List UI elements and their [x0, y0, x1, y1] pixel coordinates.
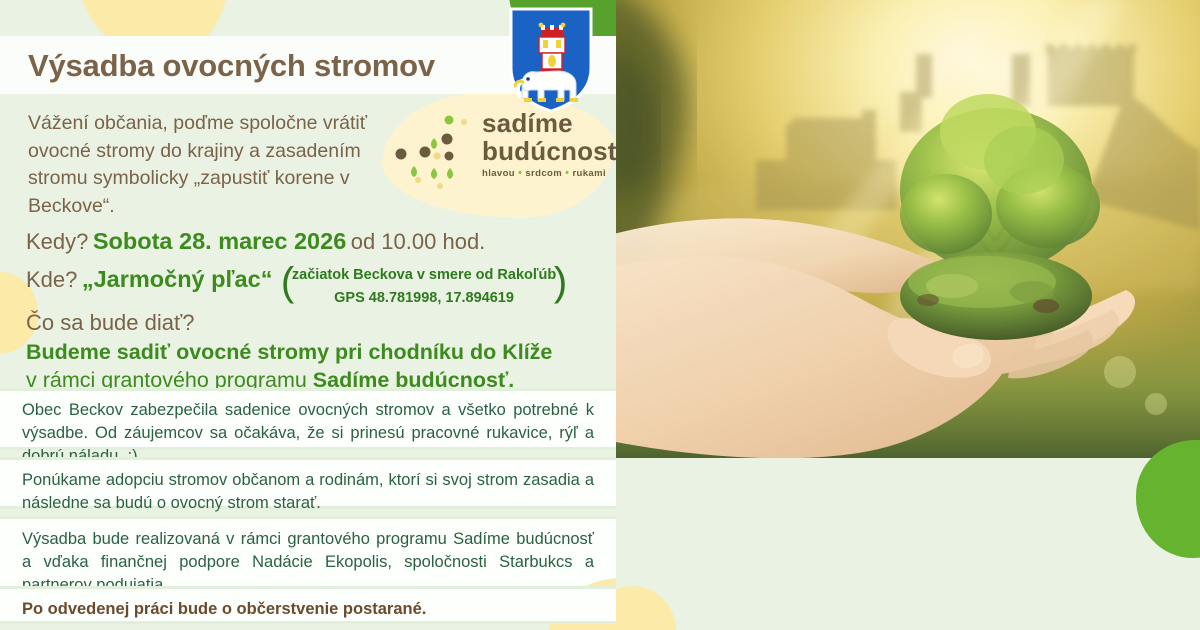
left-content-panel: Výsadba ovocných stromov Vážení občania,… — [0, 0, 616, 630]
info-band-3: Výsadba bude realizovaná v rámci grantov… — [0, 516, 616, 592]
info-band-4-text: Po odvedenej práci bude o občerstvenie p… — [0, 598, 616, 621]
event-when-label: Kedy? — [26, 229, 88, 254]
tagline-separator-1: • — [518, 167, 522, 179]
sadime-logo-line2: budúcnosť — [482, 137, 616, 165]
tagline-hlavou: hlavou — [482, 168, 515, 179]
event-what-line1: Budeme sadiť ovocné stromy pri chodníku … — [26, 338, 616, 366]
info-band-2-text: Ponúkame adopciu stromov občanom a rodin… — [0, 469, 616, 515]
info-band-1: Obec Beckov zabezpečila sadenice ovocnýc… — [0, 388, 616, 450]
hero-photo-illustration — [616, 0, 1200, 458]
event-where-value: „Jarmočný pľac“ — [82, 266, 273, 292]
event-when-value: Sobota 28. marec 2026 — [93, 228, 346, 254]
paren-left: ( — [281, 262, 294, 302]
beckov-coat-of-arms-icon — [508, 6, 594, 114]
event-details: Kedy? Sobota 28. marec 2026 od 10.00 hod… — [26, 226, 616, 394]
sadime-dots-icon — [392, 112, 484, 196]
page-title: Výsadba ovocných stromov — [28, 46, 548, 86]
tagline-srdcom: srdcom — [525, 168, 562, 179]
event-location-note-line1: začiatok Beckova v smere od Rakoľúb — [292, 267, 556, 283]
event-what-label: Čo sa bude diať? — [26, 308, 616, 338]
event-where-label: Kde? — [26, 267, 77, 292]
tagline-rukami: rukami — [572, 168, 606, 179]
intro-paragraph: Vážení občania, poďme spoločne vrátiť ov… — [28, 110, 400, 220]
info-band-2: Ponúkame adopciu stromov občanom a rodin… — [0, 457, 616, 509]
poster-root: Výsadba ovocných stromov Vážení občania,… — [0, 0, 1200, 630]
hero-photo — [616, 0, 1200, 458]
right-media-panel: Tešia sa na Vás organizátori a partneri … — [616, 0, 1200, 630]
info-band-4: Po odvedenej práci bude o občerstvenie p… — [0, 586, 616, 624]
partners-section: Tešia sa na Vás organizátori a partneri … — [616, 458, 1200, 630]
event-when-row: Kedy? Sobota 28. marec 2026 od 10.00 hod… — [26, 226, 616, 260]
event-location-note: ( začiatok Beckova v smere od Rakoľúb ) … — [283, 260, 565, 306]
sadime-buducnost-logo: sadíme budúcnosť hlavou • srdcom • rukam… — [392, 104, 608, 208]
sadime-logo-line1: sadíme — [482, 110, 616, 137]
paren-right: ) — [554, 262, 567, 302]
tagline-separator-2: • — [565, 167, 569, 179]
sadime-logo-tagline: hlavou • srdcom • rukami — [482, 167, 616, 179]
event-where-row: Kde? „Jarmočný pľac“ ( začiatok Beckova … — [26, 260, 616, 306]
event-gps-coordinates: GPS 48.781998, 17.894619 — [292, 290, 556, 306]
event-when-suffix: od 10.00 hod. — [351, 229, 486, 254]
